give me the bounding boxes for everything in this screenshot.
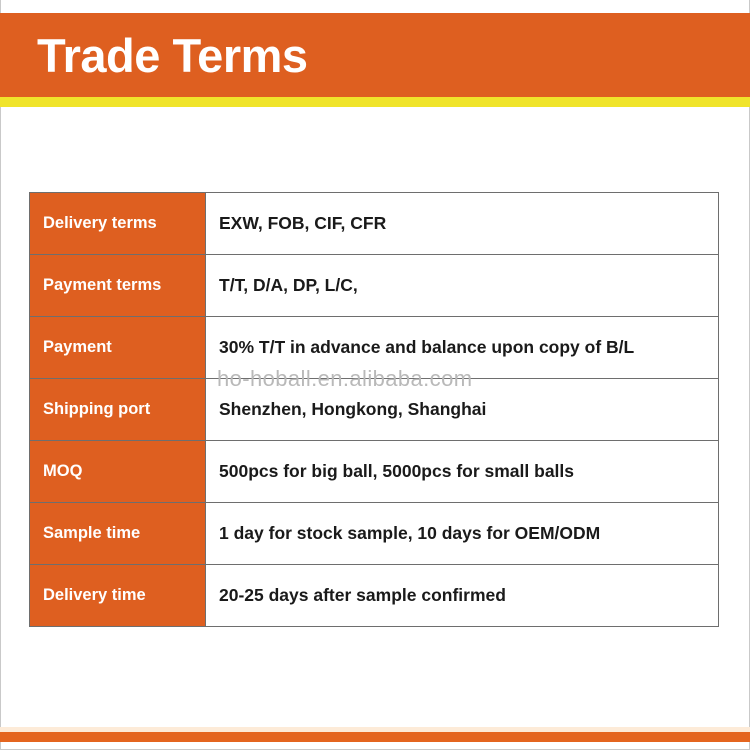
- table-row: Delivery time 20-25 days after sample co…: [30, 565, 719, 627]
- table-row: Sample time 1 day for stock sample, 10 d…: [30, 503, 719, 565]
- term-label-delivery-time: Delivery time: [30, 565, 206, 627]
- term-label-payment: Payment: [30, 317, 206, 379]
- term-label-shipping-port: Shipping port: [30, 379, 206, 441]
- table-row: MOQ 500pcs for big ball, 5000pcs for sma…: [30, 441, 719, 503]
- term-label-payment-terms: Payment terms: [30, 255, 206, 317]
- table-row: Shipping port Shenzhen, Hongkong, Shangh…: [30, 379, 719, 441]
- term-value-delivery-time: 20-25 days after sample confirmed: [206, 565, 719, 627]
- term-value-sample-time: 1 day for stock sample, 10 days for OEM/…: [206, 503, 719, 565]
- term-label-delivery-terms: Delivery terms: [30, 193, 206, 255]
- term-value-shipping-port: Shenzhen, Hongkong, Shanghai: [206, 379, 719, 441]
- term-value-moq: 500pcs for big ball, 5000pcs for small b…: [206, 441, 719, 503]
- table-row: Delivery terms EXW, FOB, CIF, CFR: [30, 193, 719, 255]
- term-value-delivery-terms: EXW, FOB, CIF, CFR: [206, 193, 719, 255]
- term-value-payment-terms: T/T, D/A, DP, L/C,: [206, 255, 719, 317]
- footer-orange-rule: [0, 732, 750, 742]
- trade-terms-table-body: Delivery terms EXW, FOB, CIF, CFR Paymen…: [30, 193, 719, 627]
- header-banner: Trade Terms: [0, 13, 750, 97]
- table-row: Payment 30% T/T in advance and balance u…: [30, 317, 719, 379]
- page-title: Trade Terms: [37, 32, 308, 79]
- header-accent-rule: [0, 97, 750, 107]
- term-value-payment: 30% T/T in advance and balance upon copy…: [206, 317, 719, 379]
- term-label-sample-time: Sample time: [30, 503, 206, 565]
- term-label-moq: MOQ: [30, 441, 206, 503]
- trade-terms-table: Delivery terms EXW, FOB, CIF, CFR Paymen…: [29, 192, 719, 627]
- table-row: Payment terms T/T, D/A, DP, L/C,: [30, 255, 719, 317]
- document-page: Trade Terms Delivery terms EXW, FOB, CIF…: [0, 0, 750, 750]
